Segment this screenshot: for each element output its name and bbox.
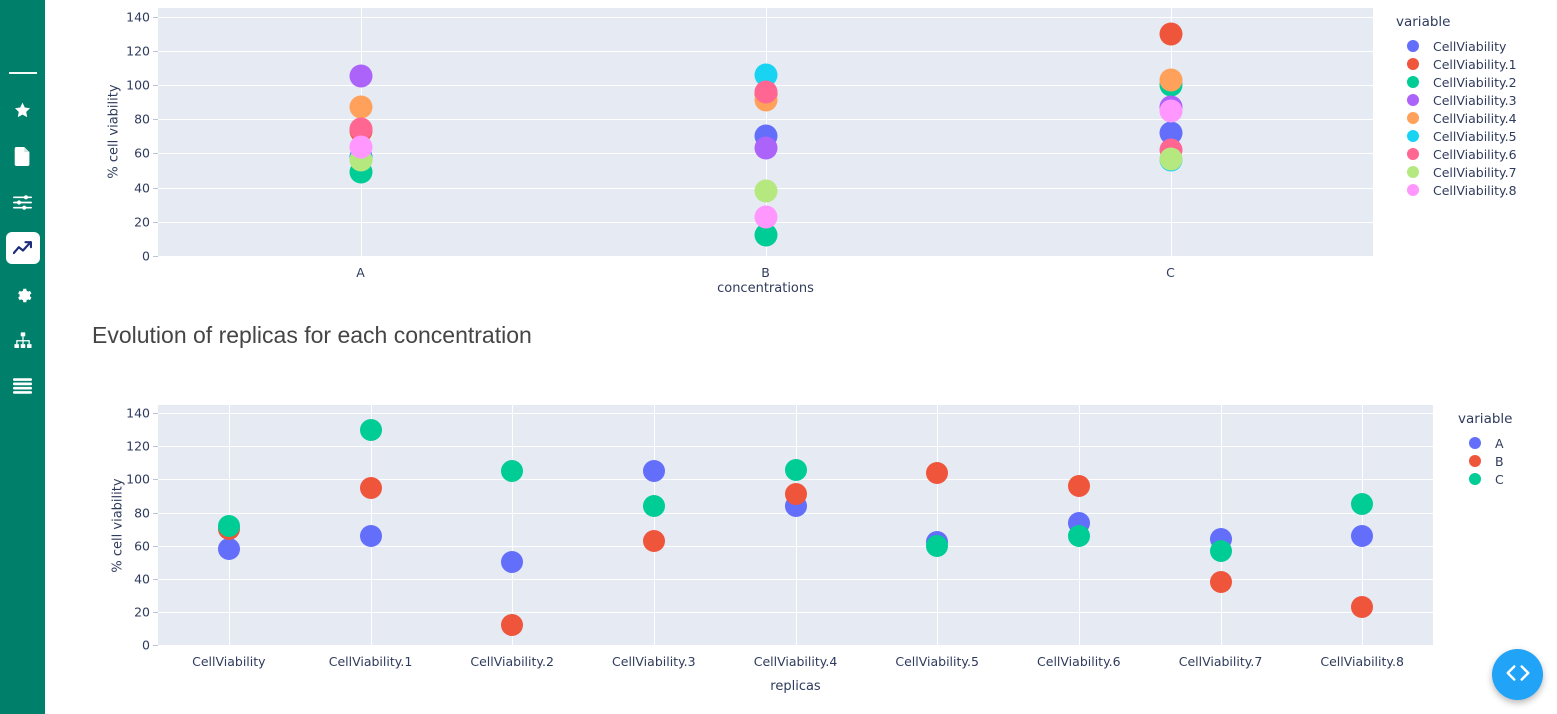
trending-up-icon [13, 240, 33, 256]
document-icon [14, 147, 31, 166]
legend-item[interactable]: CellViability.7 [1395, 163, 1517, 181]
code-view-button[interactable] [1492, 649, 1543, 700]
data-point[interactable] [360, 525, 382, 547]
y-axis-tick-mark [153, 413, 158, 414]
data-point[interactable] [643, 460, 665, 482]
y-axis-tick-label: 0 [110, 249, 150, 264]
y-axis-tick-mark [153, 51, 158, 52]
legend-item[interactable]: CellViability.6 [1395, 145, 1517, 163]
y-axis-tick-mark [153, 119, 158, 120]
y-axis-tick-mark [153, 479, 158, 480]
legend-item-label: CellViability.7 [1433, 165, 1517, 180]
legend-swatch-icon [1407, 166, 1419, 178]
legend-swatch-icon [1407, 58, 1419, 70]
x-axis-tick-label: CellViability.6 [1037, 654, 1121, 669]
data-point[interactable] [1210, 540, 1232, 562]
legend-item[interactable]: CellViability.4 [1395, 109, 1517, 127]
sidebar-item-hierarchy[interactable] [6, 324, 40, 356]
legend-swatch-icon [1407, 40, 1419, 52]
legend-swatch-icon [1469, 437, 1481, 449]
sidebar-divider [9, 72, 37, 74]
data-point[interactable] [926, 462, 948, 484]
data-point[interactable] [1210, 571, 1232, 593]
data-point[interactable] [501, 551, 523, 573]
data-point[interactable] [349, 65, 372, 88]
legend-swatch-icon [1407, 76, 1419, 88]
data-point[interactable] [1068, 525, 1090, 547]
legend-item[interactable]: CellViability [1395, 37, 1517, 55]
concentrations-legend: variable CellViabilityCellViability.1Cel… [1395, 14, 1517, 199]
data-point[interactable] [643, 530, 665, 552]
legend-item[interactable]: CellViability.5 [1395, 127, 1517, 145]
x-axis-tick-label: CellViability.5 [895, 654, 979, 669]
data-point[interactable] [1351, 493, 1373, 515]
legend-item[interactable]: C [1457, 470, 1512, 488]
y-axis-tick-mark [153, 85, 158, 86]
y-axis-tick-label: 40 [110, 180, 150, 195]
data-point[interactable] [349, 135, 372, 158]
replicas-legend: variable ABC [1457, 411, 1512, 488]
sidebar-item-analysis[interactable] [6, 232, 40, 264]
sidebar [0, 0, 45, 714]
gridline-vertical [512, 405, 513, 645]
legend-item-label: A [1495, 436, 1504, 451]
sidebar-item-document[interactable] [6, 140, 40, 172]
legend-item[interactable]: CellViability.8 [1395, 181, 1517, 199]
y-axis-tick-mark [153, 612, 158, 613]
gridline-vertical [1221, 405, 1222, 645]
concentrations-plot-area [158, 8, 1373, 256]
data-point[interactable] [754, 205, 777, 228]
y-axis-tick-mark [153, 153, 158, 154]
data-point[interactable] [218, 538, 240, 560]
x-axis-tick-label: CellViability.8 [1320, 654, 1404, 669]
legend-title: variable [1395, 14, 1517, 30]
data-point[interactable] [754, 80, 777, 103]
data-point[interactable] [218, 515, 240, 537]
x-axis-tick-label: B [761, 265, 770, 280]
data-point[interactable] [754, 137, 777, 160]
legend-swatch-icon [1407, 184, 1419, 196]
y-axis-tick-label: 140 [110, 406, 150, 421]
y-axis-tick-mark [153, 546, 158, 547]
data-point[interactable] [349, 96, 372, 119]
y-axis-tick-label: 80 [110, 505, 150, 520]
legend-swatch-icon [1407, 130, 1419, 142]
data-point[interactable] [643, 495, 665, 517]
y-axis-tick-mark [153, 513, 158, 514]
legend-item[interactable]: B [1457, 452, 1512, 470]
x-axis-tick-label: CellViability.4 [754, 654, 838, 669]
y-axis-tick-mark [153, 188, 158, 189]
gear-icon [14, 285, 32, 303]
y-axis-tick-mark [153, 579, 158, 580]
y-axis-tick-label: 100 [110, 77, 150, 92]
data-point[interactable] [360, 419, 382, 441]
y-axis-tick-label: 0 [110, 638, 150, 653]
legend-item-label: CellViability.4 [1433, 111, 1517, 126]
data-point[interactable] [1159, 147, 1182, 170]
x-axis-tick-label: C [1166, 265, 1175, 280]
y-axis-tick-mark [153, 222, 158, 223]
y-axis-tick-label: 140 [110, 9, 150, 24]
sidebar-item-settings[interactable] [6, 278, 40, 310]
gridline-horizontal [158, 256, 1373, 257]
sliders-icon [13, 194, 32, 211]
section-title: Evolution of replicas for each concentra… [92, 322, 532, 349]
data-point[interactable] [1159, 68, 1182, 91]
legend-item-label: CellViability.5 [1433, 129, 1517, 144]
legend-item[interactable]: CellViability.3 [1395, 91, 1517, 109]
y-axis-tick-label: 60 [110, 146, 150, 161]
x-axis-tick-label: CellViability.1 [329, 654, 413, 669]
y-axis-tick-mark [153, 645, 158, 646]
data-point[interactable] [926, 535, 948, 557]
sidebar-item-layers[interactable] [6, 370, 40, 402]
replicas-x-axis-title: replicas [158, 679, 1433, 694]
replicas-plot-area [158, 405, 1433, 645]
legend-item-label: B [1495, 454, 1504, 469]
data-point[interactable] [785, 459, 807, 481]
gridline-vertical [937, 405, 938, 645]
data-point[interactable] [754, 180, 777, 203]
data-point[interactable] [785, 483, 807, 505]
legend-item-label: CellViability [1433, 39, 1506, 54]
y-axis-tick-label: 120 [110, 439, 150, 454]
y-axis-tick-label: 100 [110, 472, 150, 487]
concentrations-x-axis-title: concentrations [158, 281, 1373, 296]
data-point[interactable] [1159, 99, 1182, 122]
y-axis-tick-mark [153, 256, 158, 257]
data-point[interactable] [501, 614, 523, 636]
data-point[interactable] [1159, 22, 1182, 45]
legend-item[interactable]: A [1457, 434, 1512, 452]
data-point[interactable] [1351, 596, 1373, 618]
data-point[interactable] [360, 477, 382, 499]
gridline-vertical [654, 405, 655, 645]
legend-swatch-icon [1469, 455, 1481, 467]
data-point[interactable] [1068, 475, 1090, 497]
y-axis-tick-label: 80 [110, 112, 150, 127]
legend-title: variable [1457, 411, 1512, 427]
legend-swatch-icon [1407, 148, 1419, 160]
y-axis-tick-label: 60 [110, 538, 150, 553]
x-axis-tick-label: CellViability.2 [470, 654, 554, 669]
concentrations-chart: % cell viability concentrations 02040608… [45, 0, 1557, 300]
y-axis-tick-mark [153, 446, 158, 447]
legend-item-label: CellViability.1 [1433, 57, 1517, 72]
layers-icon [13, 378, 32, 394]
legend-swatch-icon [1407, 94, 1419, 106]
sitemap-icon [14, 332, 32, 349]
code-icon [1504, 662, 1532, 688]
y-axis-tick-label: 20 [110, 604, 150, 619]
legend-item-label: CellViability.8 [1433, 183, 1517, 198]
legend-swatch-icon [1469, 473, 1481, 485]
x-axis-tick-label: CellViability.7 [1179, 654, 1263, 669]
y-axis-tick-label: 40 [110, 571, 150, 586]
gridline-vertical [796, 405, 797, 645]
replicas-chart: % cell viability replicas 02040608010012… [45, 396, 1557, 696]
legend-item-label: CellViability.6 [1433, 147, 1517, 162]
legend-item[interactable]: CellViability.2 [1395, 73, 1517, 91]
legend-swatch-icon [1407, 112, 1419, 124]
y-axis-tick-label: 120 [110, 43, 150, 58]
legend-item-label: CellViability.3 [1433, 93, 1517, 108]
data-point[interactable] [501, 460, 523, 482]
legend-item[interactable]: CellViability.1 [1395, 55, 1517, 73]
y-axis-tick-mark [153, 17, 158, 18]
legend-item-label: CellViability.2 [1433, 75, 1517, 90]
page-content: % cell viability concentrations 02040608… [45, 0, 1557, 714]
x-axis-tick-label: CellViability.3 [612, 654, 696, 669]
star-icon [13, 101, 32, 120]
x-axis-tick-label: A [356, 265, 365, 280]
y-axis-tick-label: 20 [110, 214, 150, 229]
x-axis-tick-label: CellViability [192, 654, 265, 669]
legend-item-label: C [1495, 472, 1504, 487]
data-point[interactable] [1351, 525, 1373, 547]
sidebar-item-sliders[interactable] [6, 186, 40, 218]
sidebar-item-star[interactable] [6, 94, 40, 126]
gridline-horizontal [158, 645, 1433, 646]
